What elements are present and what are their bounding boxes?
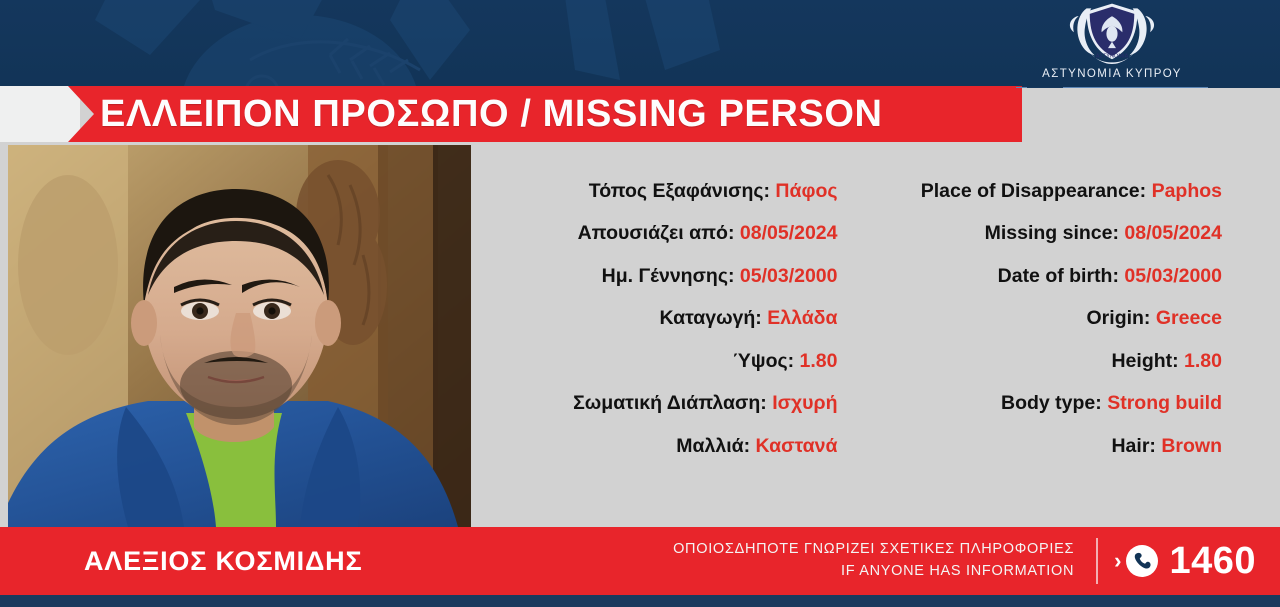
organization-name: ΑΣΤΥΝΟΜΙΑ ΚΥΠΡΟΥ: [1002, 68, 1222, 80]
detail-label: Body type:: [1001, 392, 1102, 414]
detail-row: Date of birth: 05/03/2000: [856, 266, 1223, 287]
detail-row: Hair: Brown: [856, 436, 1223, 457]
detail-value: Ελλάδα: [767, 307, 837, 329]
banner-left-block: [0, 86, 80, 142]
detail-label: Place of Disappearance:: [921, 180, 1146, 202]
detail-value: Πάφος: [775, 180, 837, 202]
detail-value: 1.80: [800, 350, 838, 372]
page-header: ΑΣΤΥΝΟΜΙΑ ΑΣΤΥΝΟΜΙΑ ΚΥΠΡΟΥ Για μια πιο α…: [0, 0, 1280, 88]
detail-label: Σωματική Διάπλαση:: [573, 392, 767, 414]
detail-label: Height:: [1111, 350, 1178, 372]
detail-row: Origin: Greece: [856, 308, 1223, 329]
svg-text:ΑΣΤΥΝΟΜΙΑ: ΑΣΤΥΝΟΜΙΑ: [1096, 54, 1129, 60]
missing-person-name: ΑΛΕΞΙΟΣ ΚΟΣΜΙΔΗΣ: [0, 546, 618, 577]
footer-bar: ΑΛΕΞΙΟΣ ΚΟΣΜΙΔΗΣ ΟΠΟΙΟΣΔΗΠΟΤΕ ΓΝΩΡΙΖΕΙ Σ…: [0, 527, 1280, 595]
detail-value: Greece: [1156, 307, 1222, 329]
detail-label: Μαλλιά:: [676, 435, 750, 457]
details-panel: Τόπος Εξαφάνισης: Πάφος Απουσιάζει από: …: [471, 145, 1280, 527]
detail-value: 08/05/2024: [740, 222, 838, 244]
information-notice: ΟΠΟΙΟΣΔΗΠΟΤΕ ΓΝΩΡΙΖΕΙ ΣΧΕΤΙΚΕΣ ΠΛΗΡΟΦΟΡΙ…: [618, 539, 1096, 583]
detail-value: Ισχυρή: [772, 392, 837, 414]
details-column-greek: Τόπος Εξαφάνισης: Πάφος Απουσιάζει από: …: [471, 145, 856, 527]
detail-label: Origin:: [1087, 307, 1151, 329]
detail-value: Strong build: [1107, 392, 1222, 414]
detail-label: Ημ. Γέννησης:: [602, 265, 735, 287]
title-banner: ΕΛΛΕΙΠΟΝ ΠΡΟΣΩΠΟ / MISSING PERSON: [0, 86, 1022, 142]
cyprus-police-shield-emblem: ΑΣΤΥΝΟΜΙΑ: [1064, 2, 1160, 64]
detail-value: Paphos: [1152, 180, 1222, 202]
dove-olive-branch-watermark: [0, 0, 760, 88]
footer-divider: [1096, 538, 1098, 584]
detail-row: Ημ. Γέννησης: 05/03/2000: [471, 266, 838, 287]
detail-value: 05/03/2000: [740, 265, 838, 287]
detail-value: 05/03/2000: [1124, 265, 1222, 287]
detail-row: Height: 1.80: [856, 351, 1223, 372]
chevron-right-icon: ›: [1114, 548, 1121, 574]
page-title: ΕΛΛΕΙΠΟΝ ΠΡΟΣΩΠΟ / MISSING PERSON: [100, 86, 883, 142]
detail-row: Σωματική Διάπλαση: Ισχυρή: [471, 393, 838, 414]
detail-label: Missing since:: [985, 222, 1119, 244]
missing-person-poster: ΑΣΤΥΝΟΜΙΑ ΑΣΤΥΝΟΜΙΑ ΚΥΠΡΟΥ Για μια πιο α…: [0, 0, 1280, 607]
detail-value: 08/05/2024: [1124, 222, 1222, 244]
detail-row: Καταγωγή: Ελλάδα: [471, 308, 838, 329]
information-notice-greek: ΟΠΟΙΟΣΔΗΠΟΤΕ ΓΝΩΡΙΖΕΙ ΣΧΕΤΙΚΕΣ ΠΛΗΡΟΦΟΡΙ…: [618, 539, 1074, 561]
detail-row: Τόπος Εξαφάνισης: Πάφος: [471, 181, 838, 202]
bottom-strip: [0, 595, 1280, 607]
telephone-icon: [1125, 544, 1159, 578]
detail-row: Μαλλιά: Καστανά: [471, 436, 838, 457]
detail-row: Missing since: 08/05/2024: [856, 223, 1223, 244]
detail-label: Καταγωγή:: [659, 307, 761, 329]
detail-row: Απουσιάζει από: 08/05/2024: [471, 223, 838, 244]
missing-person-photo: [8, 145, 471, 527]
detail-row: Ύψος: 1.80: [471, 351, 838, 372]
detail-value: Brown: [1161, 435, 1222, 457]
detail-label: Απουσιάζει από:: [578, 222, 735, 244]
detail-row: Place of Disappearance: Paphos: [856, 181, 1223, 202]
detail-value: Καστανά: [756, 435, 838, 457]
detail-label: Ύψος:: [733, 350, 794, 372]
tagline-box: Για μια πιο ασφαλή κοινωνία: [1016, 87, 1208, 88]
detail-value: 1.80: [1184, 350, 1222, 372]
detail-label: Date of birth:: [998, 265, 1119, 287]
detail-row: Body type: Strong build: [856, 393, 1223, 414]
hotline-block[interactable]: › 1460: [1114, 542, 1280, 580]
police-brand: ΑΣΤΥΝΟΜΙΑ ΑΣΤΥΝΟΜΙΑ ΚΥΠΡΟΥ Για μια πιο α…: [1002, 2, 1222, 88]
hotline-number[interactable]: 1460: [1169, 542, 1256, 580]
details-column-english: Place of Disappearance: Paphos Missing s…: [856, 145, 1280, 527]
detail-label: Hair:: [1111, 435, 1155, 457]
detail-label: Τόπος Εξαφάνισης:: [589, 180, 770, 202]
information-notice-english: IF ANYONE HAS INFORMATION: [618, 561, 1074, 583]
